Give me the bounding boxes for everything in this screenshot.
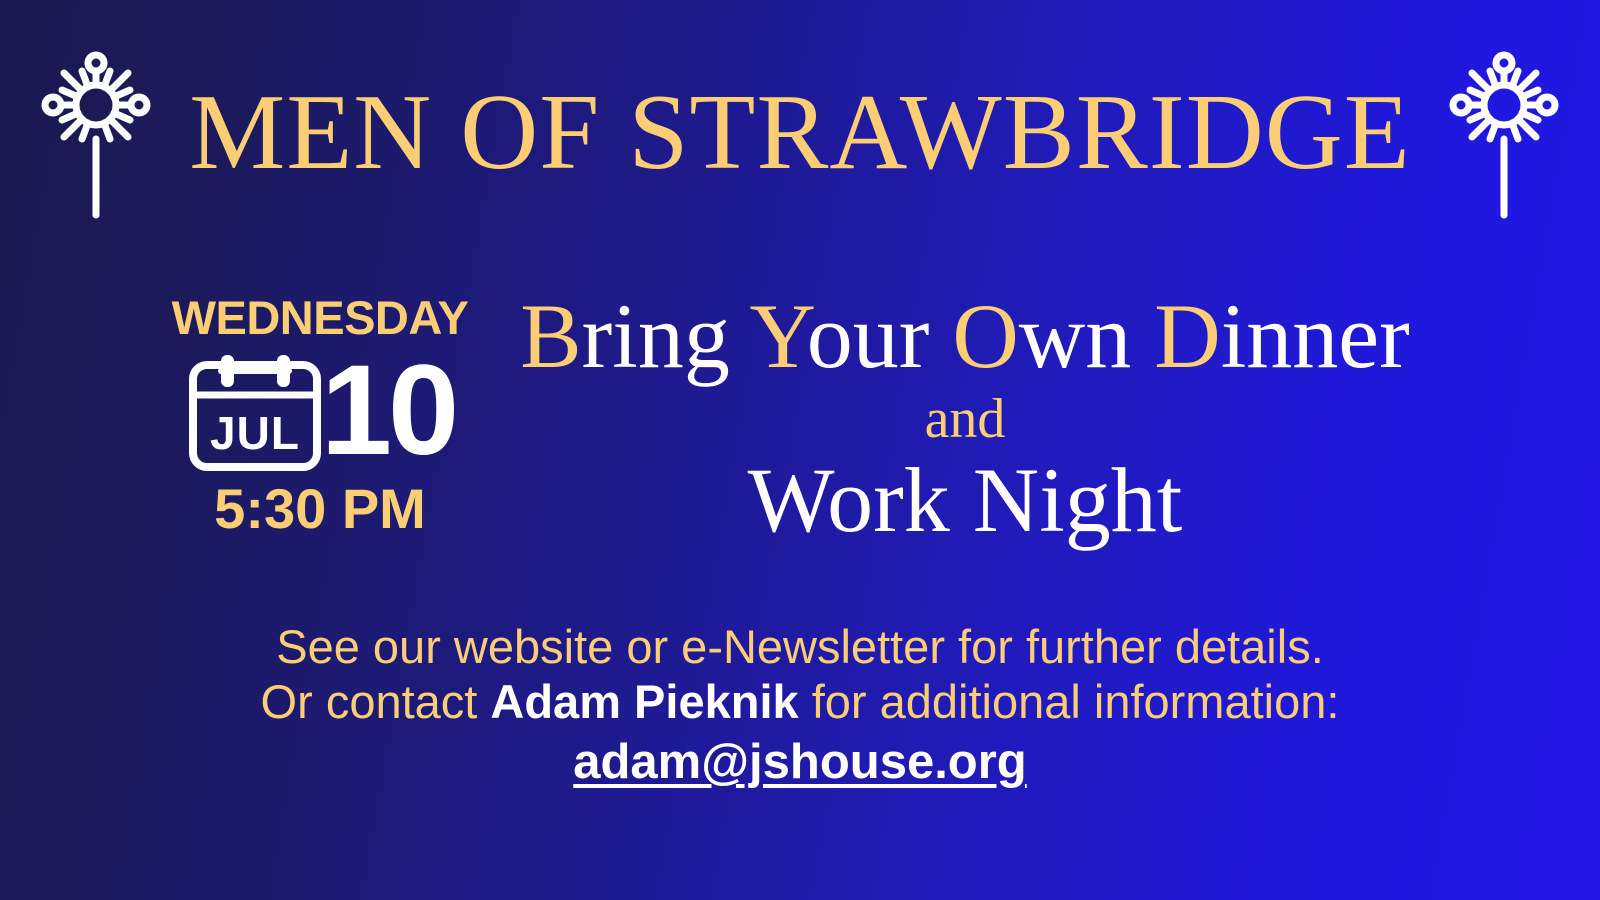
footer-line-1: See our website or e-Newsletter for furt… <box>0 620 1600 675</box>
sparkler-icon-left <box>31 43 161 223</box>
contact-email-link[interactable]: adam@jshouse.org <box>573 734 1027 791</box>
headline-cap-b: B <box>520 285 581 387</box>
footer-contact-suffix: for additional information: <box>799 675 1340 728</box>
headline-cap-o: O <box>952 285 1018 387</box>
headline-cap-d: D <box>1154 285 1220 387</box>
headline-text-ring: ring <box>582 285 750 387</box>
event-details-row: WEDNESDAY JUL 10 5:30 PM Bring Your Own … <box>0 282 1600 572</box>
event-weekday: WEDNESDAY <box>172 294 469 341</box>
headline-text-our: our <box>807 285 953 387</box>
footer-contact-name: Adam Pieknik <box>490 675 798 728</box>
headline-cap-y: Y <box>749 285 806 387</box>
footer-line-2: Or contact Adam Pieknik for additional i… <box>0 675 1600 730</box>
event-time: 5:30 PM <box>214 481 426 537</box>
headline-text-inner: inner <box>1221 285 1410 387</box>
calendar-month-label: JUL <box>210 407 300 459</box>
headline-conjunction: and <box>485 384 1445 454</box>
date-month-day: JUL 10 <box>185 347 455 475</box>
header-row: MEN OF STRAWBRIDGE <box>0 40 1600 225</box>
page-title: MEN OF STRAWBRIDGE <box>171 79 1428 187</box>
footer-contact-prefix: Or contact <box>261 675 491 728</box>
footer-contact-block: See our website or e-Newsletter for furt… <box>0 620 1600 791</box>
date-block: WEDNESDAY JUL 10 5:30 PM <box>155 282 485 537</box>
headline-line-1: Bring Your Own Dinner <box>485 290 1445 384</box>
headline-line-2: Work Night <box>485 454 1445 548</box>
headline-text-wn: wn <box>1019 285 1154 387</box>
event-day-number: 10 <box>321 351 455 471</box>
headline-block: Bring Your Own Dinner and Work Night <box>485 282 1445 548</box>
calendar-icon: JUL <box>185 347 325 475</box>
event-flyer: MEN OF STRAWBRIDGE WEDNESDA <box>0 0 1600 900</box>
sparkler-icon-right <box>1439 43 1569 223</box>
